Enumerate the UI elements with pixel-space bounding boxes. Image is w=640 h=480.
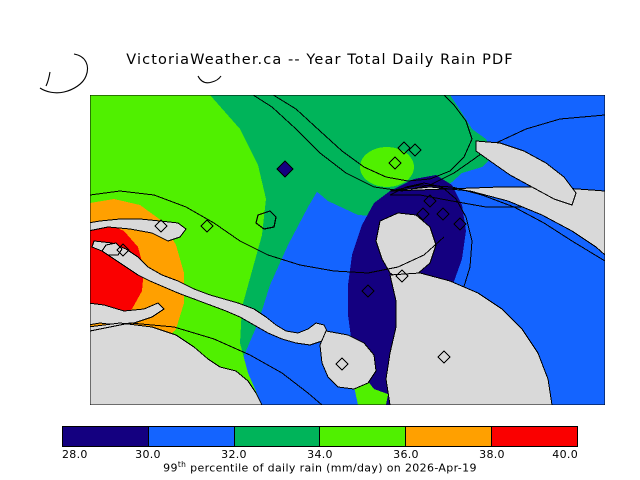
contour-map — [90, 95, 605, 405]
colorbar-caption-suffix: percentile of daily rain (mm/day) on 202… — [186, 462, 477, 475]
colorbar-caption: 99th percentile of daily rain (mm/day) o… — [0, 460, 640, 475]
weather-map-page: VictoriaWeather.ca -- Year Total Daily R… — [0, 0, 640, 480]
colorbar-band-28-30 — [63, 427, 149, 446]
page-title: VictoriaWeather.ca -- Year Total Daily R… — [0, 52, 640, 68]
colorbar-band-34-36 — [320, 427, 406, 446]
colorbar-band-32-34 — [235, 427, 321, 446]
map-plot-area[interactable] — [90, 95, 605, 405]
colorbar-band-36-38 — [406, 427, 492, 446]
coastline-fragment-topcenter — [196, 72, 224, 88]
colorbar-caption-prefix: 99 — [163, 462, 178, 475]
colorbar-band-38-40 — [492, 427, 577, 446]
colorbar-band-30-32 — [149, 427, 235, 446]
colorbar[interactable] — [62, 426, 578, 447]
